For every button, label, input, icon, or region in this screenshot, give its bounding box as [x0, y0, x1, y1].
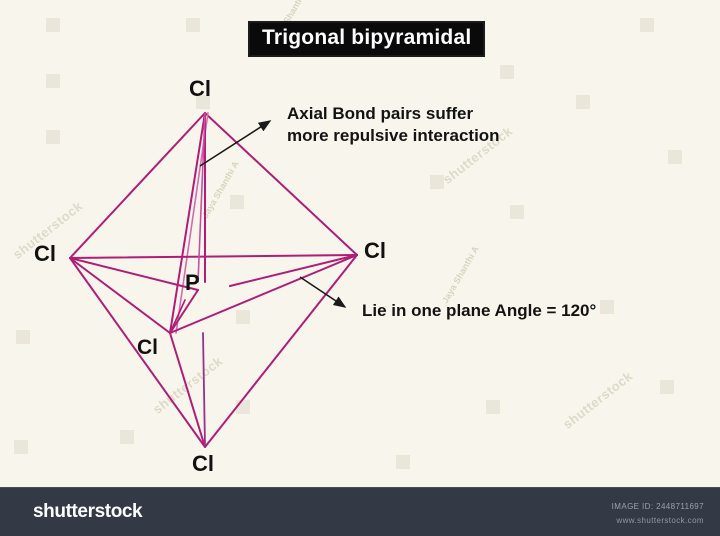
site-url-text: www.shutterstock.com — [616, 516, 704, 525]
equatorial-annotation-arrow — [300, 277, 345, 307]
axial-annotation-arrow — [200, 121, 270, 166]
atom-label-cl-axial-bottom: Cl — [192, 453, 214, 475]
screenshot-root: shutterstock shutterstock shutterstock s… — [0, 0, 720, 536]
shutterstock-logo: shutterstock — [33, 501, 142, 523]
axial-annotation-line-2: more repulsive interaction — [287, 125, 500, 147]
page-title: Trigonal bipyramidal — [248, 21, 485, 57]
atom-label-p-central: P — [185, 272, 200, 294]
axial-annotation-line-1: Axial Bond pairs suffer — [287, 103, 500, 125]
atom-label-cl-equatorial-front: Cl — [137, 337, 158, 358]
equatorial-annotation-text: Lie in one plane Angle = 120° — [362, 300, 596, 322]
image-id-text: IMAGE ID: 2448711697 — [612, 502, 704, 511]
atom-label-cl-equatorial-left: Cl — [34, 243, 56, 265]
diagram-canvas: shutterstock shutterstock shutterstock s… — [0, 0, 720, 487]
atom-label-cl-axial-top: Cl — [189, 78, 211, 100]
atom-label-cl-equatorial-right: Cl — [364, 240, 386, 262]
axial-annotation-text: Axial Bond pairs suffer more repulsive i… — [287, 103, 500, 147]
annotation-arrows — [0, 0, 720, 487]
equatorial-annotation-line-1: Lie in one plane Angle = 120° — [362, 300, 596, 322]
stock-footer-bar: shutterstock IMAGE ID: 2448711697 www.sh… — [0, 487, 720, 536]
